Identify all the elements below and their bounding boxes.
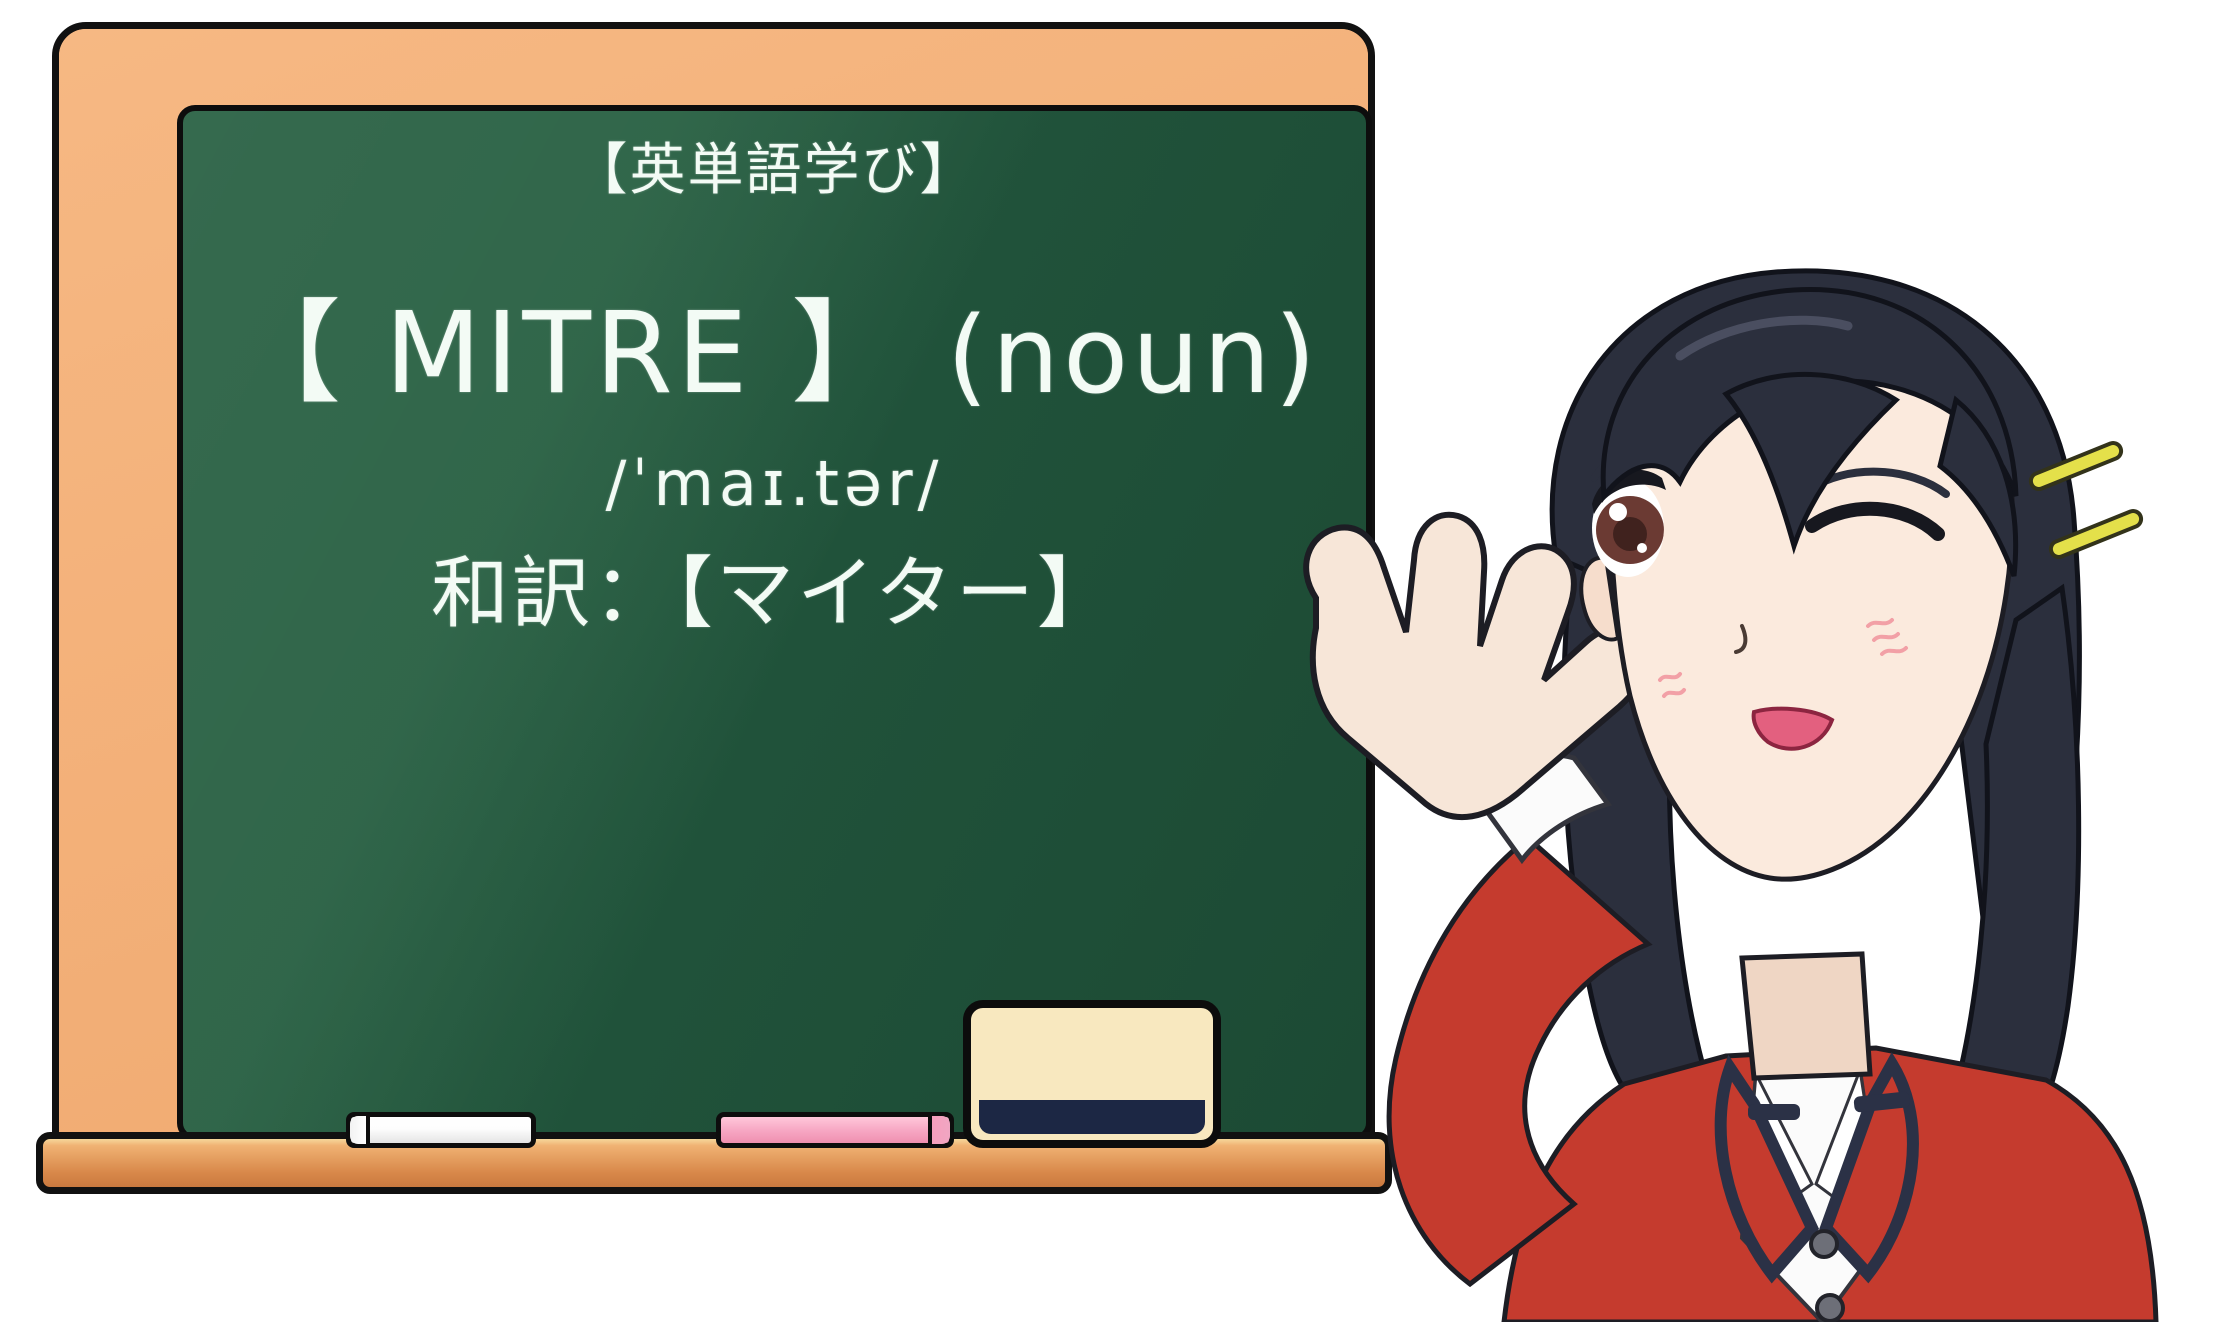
face <box>1610 300 2012 879</box>
japanese-translation: 和訳：【マイター】 <box>183 531 1366 643</box>
pink-chalk <box>716 1112 954 1148</box>
eraser-felt <box>979 1100 1205 1134</box>
blazer-button-bottom <box>1817 1295 1843 1321</box>
sleeve-cuff <box>1470 755 1608 860</box>
word-close-bracket: 】 <box>791 289 907 419</box>
eye-iris <box>1596 496 1664 564</box>
blush-right <box>1868 620 1906 654</box>
blazer-body <box>1504 1048 2156 1322</box>
blackboard-surface: 【英単語学び】 【 MITRE 】 (noun) /ˈmaɪ.tər/ 和訳：【… <box>177 105 1372 1141</box>
hair-shine <box>1680 320 1848 356</box>
eye-highlight-small <box>1637 543 1647 553</box>
eye-open-iris-group <box>1596 496 1664 564</box>
ear-left <box>1581 558 1618 640</box>
nose <box>1736 626 1745 652</box>
blackboard-frame: 【英単語学び】 【 MITRE 】 (noun) /ˈmaɪ.tər/ 和訳：【… <box>52 22 1375 1168</box>
eyelash-left <box>1592 470 1666 514</box>
shirt <box>1742 1070 1884 1322</box>
hair-right-lock <box>1948 588 2079 1134</box>
eye-closed-wink <box>1812 509 1938 534</box>
eyebrow-right <box>1808 472 1946 494</box>
hair-left-lock <box>1564 564 1708 1094</box>
lapel-left <box>1721 1068 1812 1274</box>
part-of-speech: (noun) <box>947 294 1320 417</box>
hair-bang-right <box>1940 400 2016 576</box>
blush-left <box>1660 674 1684 696</box>
eye-pupil <box>1613 517 1647 551</box>
screenshot-canvas: 【英単語学び】 【 MITRE 】 (noun) /ˈmaɪ.tər/ 和訳：【… <box>0 0 2218 1322</box>
hair-bang-center <box>1726 374 1896 546</box>
hair-bangs <box>1603 289 2016 496</box>
anime-schoolgirl-character <box>1256 228 2218 1322</box>
hair-back <box>1552 271 2079 1040</box>
eye-open-sclera <box>1592 479 1664 577</box>
board-word-line: 【 MITRE 】 (noun) <box>183 263 1366 425</box>
pronunciation-ipa: /ˈmaɪ.tər/ <box>183 447 1366 520</box>
mouth <box>1754 709 1832 749</box>
lapel-right <box>1826 1064 1913 1274</box>
white-chalk <box>346 1112 536 1148</box>
word-text: MITRE <box>385 289 752 419</box>
blazer-button-top <box>1811 1231 1837 1257</box>
hairpin-lower <box>2048 509 2143 560</box>
neck <box>1742 954 1870 1078</box>
lapel-notch-right <box>1853 1091 1910 1113</box>
lapel-notch-left <box>1748 1104 1800 1120</box>
shirt-collar-left <box>1742 1074 1812 1234</box>
word-open-bracket: 【 <box>229 289 345 419</box>
hairpin-upper <box>2028 441 2123 492</box>
arm-sleeve <box>1389 838 1648 1284</box>
eyebrow-left <box>1594 453 1668 478</box>
eye-highlight-big <box>1609 503 1627 521</box>
board-heading: 【英単語学び】 <box>183 125 1366 206</box>
blackboard-eraser <box>963 1000 1221 1148</box>
shirt-collar-right <box>1816 1070 1886 1236</box>
eraser-body <box>963 1000 1221 1148</box>
